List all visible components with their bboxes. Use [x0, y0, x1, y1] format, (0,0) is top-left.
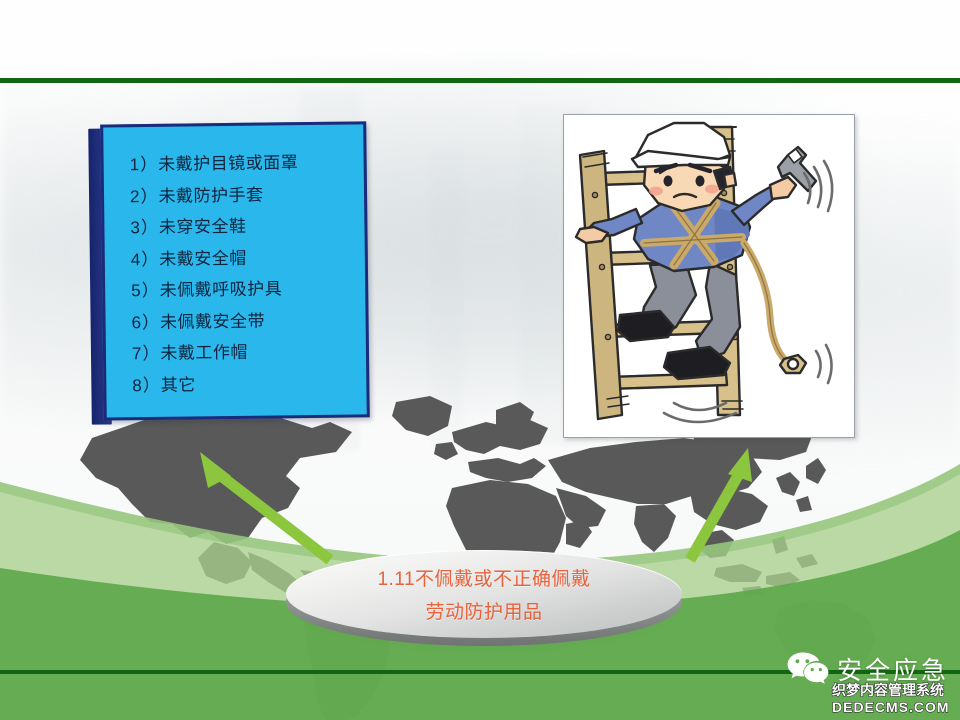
list-item-label: 未戴工作帽 [160, 343, 248, 363]
list-item-number: 3） [130, 218, 159, 237]
list-item: 2）未戴防护手套 [104, 178, 364, 213]
wechat-icon [786, 651, 830, 687]
list-item-label: 未穿安全鞋 [159, 217, 247, 237]
list-item-label: 未戴防护手套 [158, 185, 263, 205]
list-item-number: 1） [130, 155, 159, 174]
slide-canvas: 1）未戴护目镜或面罩 2）未戴防护手套 3）未穿安全鞋 4）未戴安全帽 5）未佩… [0, 0, 960, 720]
list-item: 3）未穿安全鞋 [104, 209, 364, 244]
list-item: 8）其它 [106, 367, 366, 402]
watermark-line-2: DEDECMS.COM [832, 700, 950, 714]
list-item-label: 其它 [161, 375, 196, 394]
worker-on-ladder-illustration [563, 114, 855, 438]
list-item-label: 未戴安全帽 [159, 248, 247, 268]
callout-ellipse: 1.11不佩戴或不正确佩戴 劳动防护用品 [286, 550, 682, 646]
callout-text: 1.11不佩戴或不正确佩戴 劳动防护用品 [286, 550, 682, 638]
hazard-list: 1）未戴护目镜或面罩 2）未戴防护手套 3）未穿安全鞋 4）未戴安全帽 5）未佩… [103, 124, 366, 401]
list-item: 4）未戴安全帽 [105, 241, 365, 276]
list-item: 5）未佩戴呼吸护具 [105, 272, 365, 307]
list-item-label: 未佩戴安全带 [160, 311, 265, 331]
list-item-number: 8） [132, 375, 161, 394]
list-item-number: 5） [131, 281, 160, 300]
list-item-number: 6） [131, 312, 160, 331]
list-item: 6）未佩戴安全带 [105, 304, 365, 339]
top-green-rule [0, 78, 960, 83]
dedecms-watermark: 织梦内容管理系统 DEDECMS.COM [832, 683, 950, 714]
panel-face: 1）未戴护目镜或面罩 2）未戴防护手套 3）未穿安全鞋 4）未戴安全帽 5）未佩… [100, 121, 370, 420]
list-item: 7）未戴工作帽 [106, 335, 366, 370]
callout-line-1: 1.11不佩戴或不正确佩戴 [377, 564, 590, 591]
list-item-number: 2） [130, 186, 159, 205]
callout-line-2: 劳动防护用品 [425, 597, 542, 624]
hazard-list-panel: 1）未戴护目镜或面罩 2）未戴防护手套 3）未穿安全鞋 4）未戴安全帽 5）未佩… [88, 121, 370, 424]
list-item: 1）未戴护目镜或面罩 [103, 146, 363, 181]
list-item-label: 未佩戴呼吸护具 [160, 279, 283, 299]
list-item-label: 未戴护目镜或面罩 [158, 153, 298, 174]
watermark-line-1: 织梦内容管理系统 [832, 683, 944, 697]
list-item-number: 4） [131, 249, 160, 268]
list-item-number: 7） [132, 344, 161, 363]
